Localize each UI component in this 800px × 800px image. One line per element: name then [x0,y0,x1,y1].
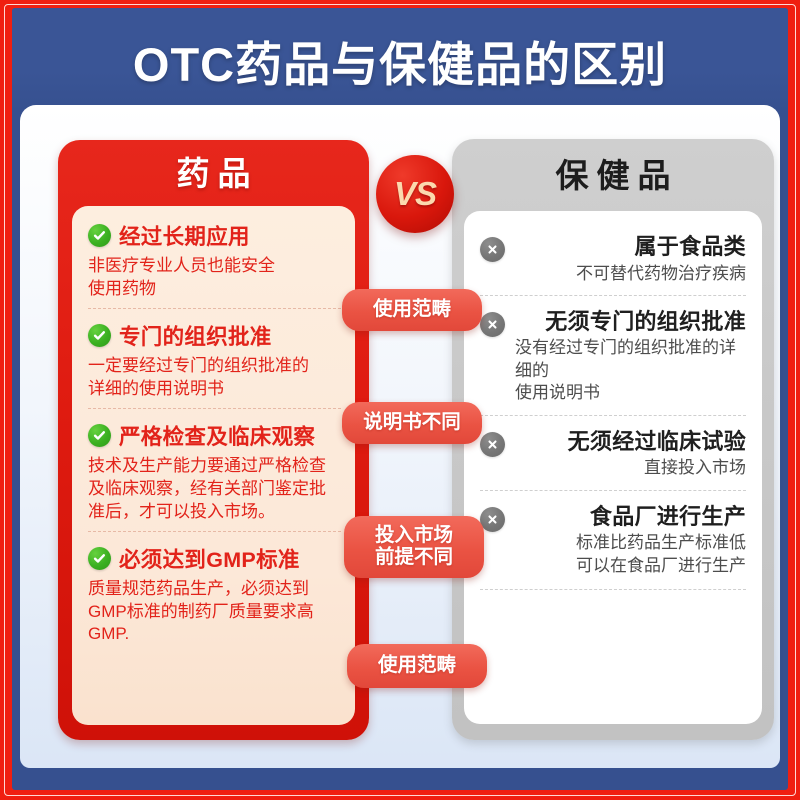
drug-card-header: 药品 [58,140,369,202]
list-divider [480,589,746,590]
check-circle-icon [88,424,111,447]
health-item-texts: 无须专门的组织批准 没有经过专门的组织批准的详细的使用说明书 [515,308,746,405]
health-item-desc: 不可替代药物治疗疾病 [515,263,746,285]
check-circle-icon [88,547,111,570]
drug-card-body: 经过长期应用 非医疗专业人员也能安全使用药物 专门的组织批准 一定要经过专门的组… [72,206,355,725]
comparison-pill-3: 投入市场前提不同 [344,516,484,578]
check-circle-icon [88,224,111,247]
health-item-texts: 食品厂进行生产 标准比药品生产标准低可以在食品厂进行生产 [515,503,746,577]
drug-item-title: 专门的组织批准 [119,320,272,351]
health-item-row: 属于食品类 不可替代药物治疗疾病 [480,233,746,285]
x-circle-icon [480,312,505,337]
list-item: 无须经过临床试验 直接投入市场 [480,415,746,490]
vs-label: VS [394,175,436,213]
drug-item-head: 专门的组织批准 [88,320,341,351]
list-item: 必须达到GMP标准 质量规范药品生产，必须达到GMP标准的制药厂质量要求高GMP… [88,531,341,654]
title-band: OTC药品与保健品的区别 [12,8,788,113]
health-item-row: 无须专门的组织批准 没有经过专门的组织批准的详细的使用说明书 [480,308,746,405]
list-item: 属于食品类 不可替代药物治疗疾病 [480,229,746,295]
x-circle-icon [480,237,505,262]
drug-item-desc: 一定要经过专门的组织批准的详细的使用说明书 [88,355,341,400]
health-item-row: 食品厂进行生产 标准比药品生产标准低可以在食品厂进行生产 [480,503,746,577]
vs-badge: VS [376,155,454,233]
comparison-pill-1: 使用范畴 [342,289,482,331]
drug-item-head: 必须达到GMP标准 [88,543,341,574]
list-item: 食品厂进行生产 标准比药品生产标准低可以在食品厂进行生产 [480,490,746,587]
health-card-body: 属于食品类 不可替代药物治疗疾病 无须专门的组织批准 没有经过专门的组织批准的详… [464,211,762,724]
health-product-card: 保健品 属于食品类 不可替代药物治疗疾病 [452,139,774,740]
drug-card: 药品 经过长期应用 非医疗专业人员也能安全使用药物 [58,140,369,740]
comparison-pill-2: 说明书不同 [342,402,482,444]
health-item-desc: 直接投入市场 [515,457,746,479]
health-item-texts: 属于食品类 不可替代药物治疗疾病 [515,233,746,285]
check-circle-icon [88,324,111,347]
drug-card-title: 药品 [169,147,259,195]
x-circle-icon [480,432,505,457]
x-circle-icon [480,507,505,532]
health-item-desc: 标准比药品生产标准低可以在食品厂进行生产 [515,532,746,577]
drug-item-title: 经过长期应用 [119,220,250,251]
health-item-row: 无须经过临床试验 直接投入市场 [480,428,746,480]
list-item: 严格检查及临床观察 技术及生产能力要通过严格检查及临床观察，经有关部门鉴定批准后… [88,408,341,531]
drug-item-head: 严格检查及临床观察 [88,420,341,451]
health-card-title: 保健品 [548,149,679,197]
health-card-header: 保健品 [452,139,774,207]
health-item-title: 食品厂进行生产 [515,503,746,531]
health-item-texts: 无须经过临床试验 直接投入市场 [515,428,746,480]
health-item-title: 无须专门的组织批准 [515,308,746,336]
drug-item-head: 经过长期应用 [88,220,341,251]
page-title: OTC药品与保健品的区别 [133,26,667,95]
drug-item-desc: 技术及生产能力要通过严格检查及临床观察，经有关部门鉴定批准后，才可以投入市场。 [88,455,341,523]
comparison-pill-4: 使用范畴 [347,644,487,688]
drug-item-desc: 非医疗专业人员也能安全使用药物 [88,255,341,300]
health-item-desc: 没有经过专门的组织批准的详细的使用说明书 [515,337,746,404]
list-item: 无须专门的组织批准 没有经过专门的组织批准的详细的使用说明书 [480,295,746,415]
poster-frame: OTC药品与保健品的区别 药品 经过长期应用 非医疗专业人员也能安全使用药物 [0,0,800,800]
health-item-title: 无须经过临床试验 [515,428,746,456]
drug-item-title: 严格检查及临床观察 [119,420,315,451]
drug-item-desc: 质量规范药品生产，必须达到GMP标准的制药厂质量要求高GMP. [88,578,341,646]
list-item: 专门的组织批准 一定要经过专门的组织批准的详细的使用说明书 [88,308,341,408]
health-item-title: 属于食品类 [515,233,746,261]
poster-stage: OTC药品与保健品的区别 药品 经过长期应用 非医疗专业人员也能安全使用药物 [12,8,788,790]
list-item: 经过长期应用 非医疗专业人员也能安全使用药物 [88,220,341,308]
drug-item-title: 必须达到GMP标准 [119,543,300,574]
